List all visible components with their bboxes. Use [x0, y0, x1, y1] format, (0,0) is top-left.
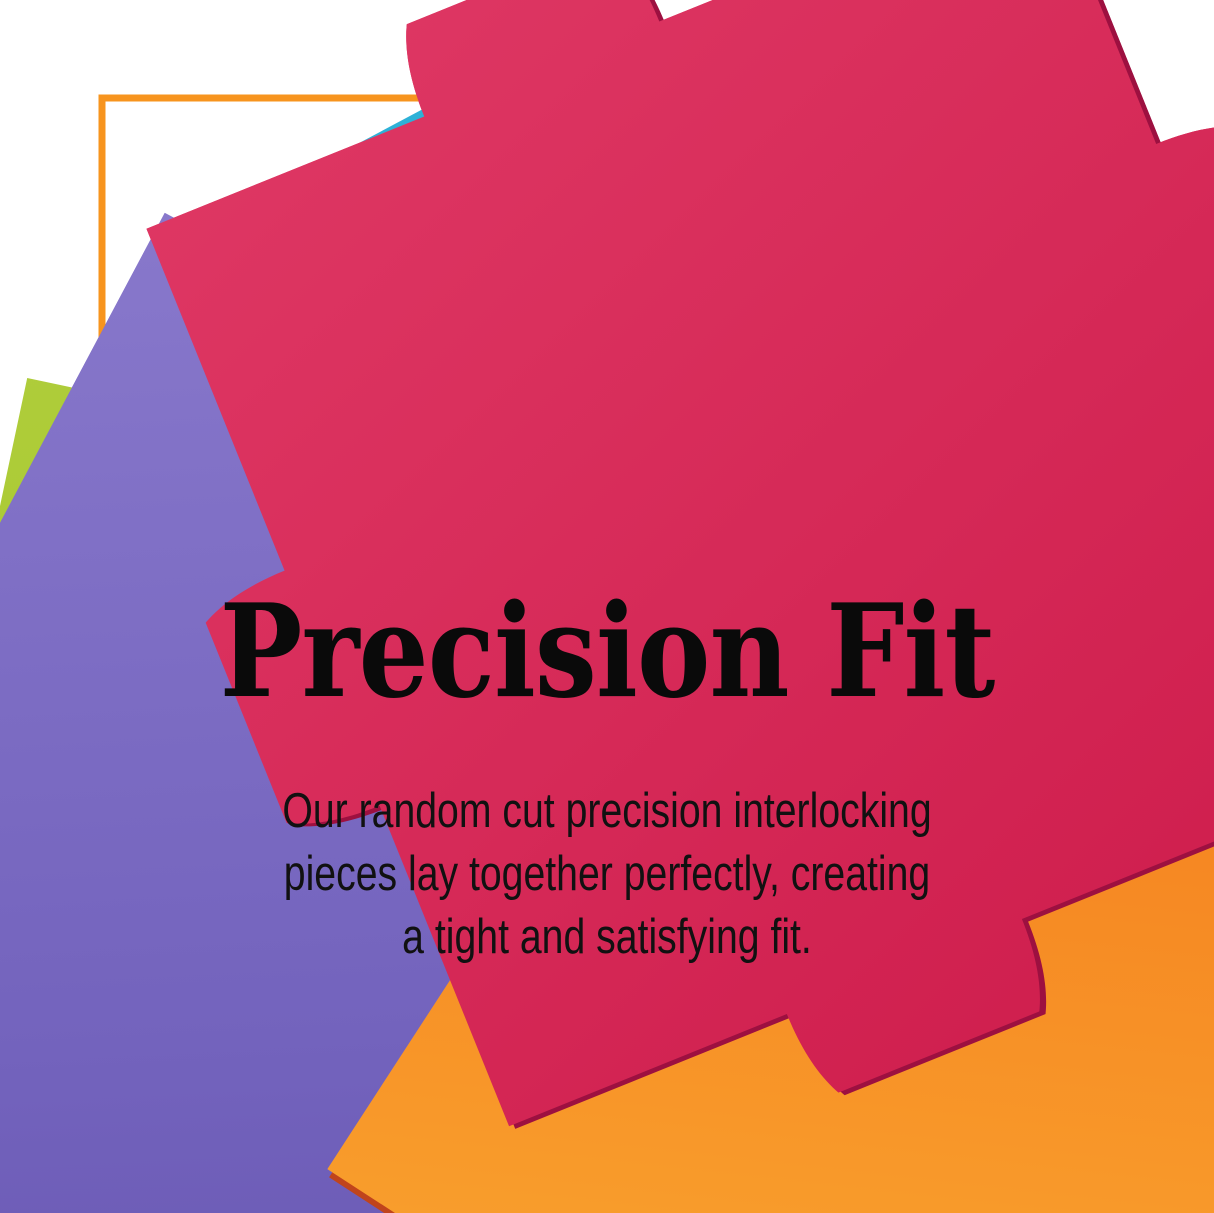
body-line-1: Our random cut precision interlocking: [121, 780, 1092, 843]
page-title: Precision Fit: [85, 588, 1129, 716]
body-copy: Our random cut precision interlocking pi…: [121, 780, 1092, 969]
promo-card: Precision Fit Our random cut precision i…: [0, 0, 1214, 1213]
body-line-3: a tight and satisfying fit.: [121, 906, 1092, 969]
body-line-2: pieces lay together perfectly, creating: [121, 843, 1092, 906]
